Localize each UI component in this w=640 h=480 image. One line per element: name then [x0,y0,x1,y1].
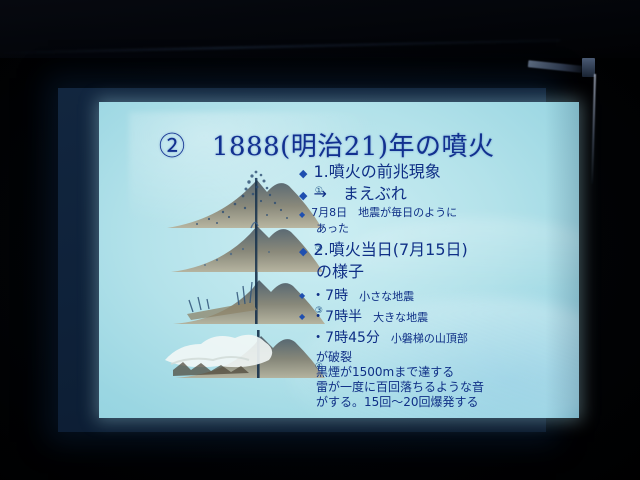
diamond-bullet-icon: ◆ [299,313,305,321]
diamond-bullet-icon: ◆ [299,168,307,179]
bullet-item-7: ◆ ・7時45分 小磐梯の山頂部 [299,329,557,348]
bullet-time: ・7時 [311,288,348,304]
bullet-item-6: ◆ ・7時半 大きな地震 [299,308,557,327]
presentation-slide: ② 1888(明治21)年の噴火 [99,102,579,418]
dark-room: ② 1888(明治21)年の噴火 [0,0,640,480]
screen-mount-rail [528,60,582,73]
projection-screen: ② 1888(明治21)年の噴火 [58,88,546,432]
projector-falloff [545,102,579,418]
diamond-bullet-icon: ◆ [299,246,307,257]
paragraph-line-2: 黒煙が1500mまで達する [316,365,557,380]
diamond-bullet-icon: ◆ [299,190,307,201]
bullet-item-5: ◆ ・7時 小さな地震 [299,287,557,306]
bullet-text: 2.噴火当日(7月15日) [313,240,467,260]
bullet-time: ・7時半 [311,309,362,325]
paragraph-line-4: がする。15回〜20回爆発する [316,395,557,410]
bullet-note: 大きな地震 [373,311,428,324]
bullet-time: ・7時45分 [311,330,380,346]
pull-cord [591,74,596,184]
bullet-item-4: ◆ 2.噴火当日(7月15日) [299,240,557,260]
bullet-item-2: ◆ → まえぶれ [299,184,557,204]
bullet-text-continued: あった [316,222,557,236]
slide-title: ② 1888(明治21)年の噴火 [159,132,519,162]
paragraph-line-3: 雷が一度に百回落ちるような音 [316,380,557,395]
bullet-note: 小磐梯の山頂部 [391,332,468,345]
bullet-text: 1.噴火の前兆現象 [313,162,440,182]
bullet-text: 7月8日 地震が毎日のように [311,206,457,220]
bullet-list: ◆ 1.噴火の前兆現象 ◆ → まえぶれ ◆ 7月8日 地震が毎日のように あっ… [299,162,557,410]
diamond-bullet-icon: ◆ [299,211,305,219]
bullet-text: → まえぶれ [313,184,406,204]
bullet-text-continued: の様子 [316,262,557,282]
bullet-item-1: ◆ 1.噴火の前兆現象 [299,162,557,182]
bullet-item-3: ◆ 7月8日 地震が毎日のように [299,206,557,220]
paragraph-line-1: が破裂 [316,350,557,365]
bullet-note: 小さな地震 [359,290,414,303]
diamond-bullet-icon: ◆ [299,292,305,300]
